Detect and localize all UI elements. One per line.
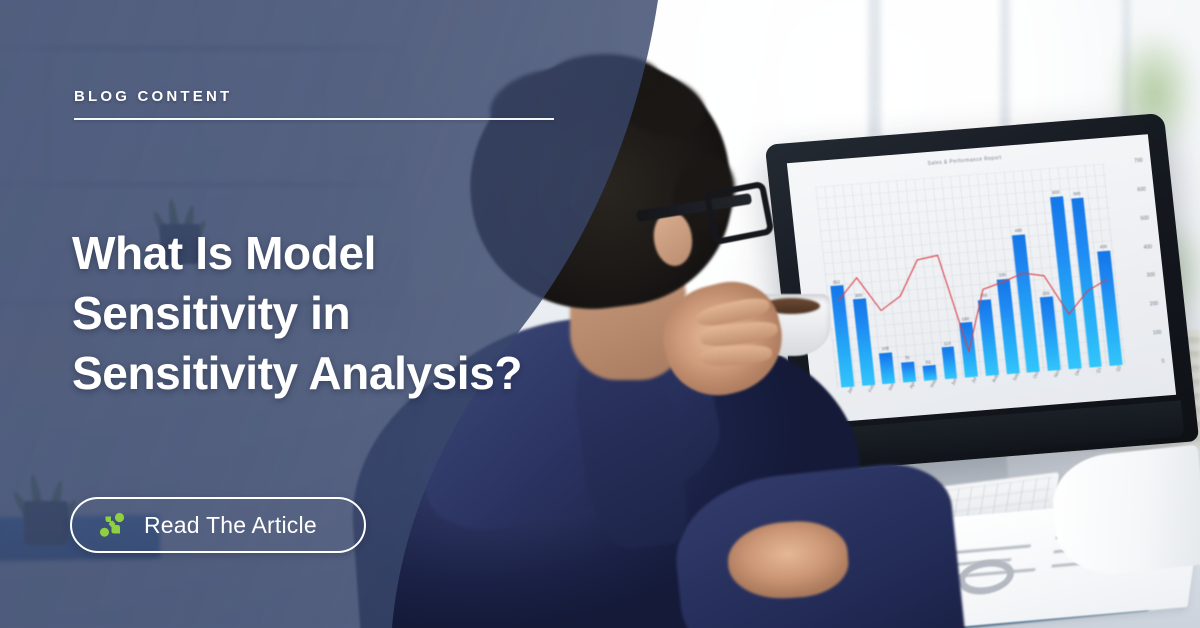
page-title-line-1: What Is Model [72, 224, 592, 284]
page-title-line-2: Sensitivity in [72, 284, 592, 344]
eyebrow-divider [74, 118, 554, 120]
chart-y-tick-label: 300 [1146, 273, 1155, 280]
banner-content: BLOG CONTENT What Is Model Sensitivity i… [0, 0, 640, 628]
chart-y-tick-label: 0 [1161, 359, 1164, 365]
page-title: What Is Model Sensitivity in Sensitivity… [72, 224, 592, 403]
read-the-article-label: Read The Article [144, 512, 317, 539]
node-graph-logo-icon [98, 511, 128, 539]
chart-y-tick-label: 100 [1153, 330, 1162, 337]
chart-y-tick-label: 200 [1150, 301, 1159, 308]
blog-banner: Sales & Performance Report 3523001087052… [0, 0, 1200, 628]
page-title-line-3: Sensitivity Analysis? [72, 344, 592, 404]
read-the-article-button[interactable]: Read The Article [70, 497, 366, 553]
eyeglasses-lens [703, 181, 774, 246]
chart-y-tick-label: 700 [1134, 158, 1143, 165]
chart-y-tick-label: 400 [1143, 244, 1152, 251]
chart-title: Sales & Performance Report [927, 155, 1001, 167]
chart-y-tick-label: 500 [1140, 215, 1149, 222]
chart-y-tick-label: 600 [1137, 186, 1146, 193]
eyebrow-label: BLOG CONTENT [74, 88, 232, 105]
